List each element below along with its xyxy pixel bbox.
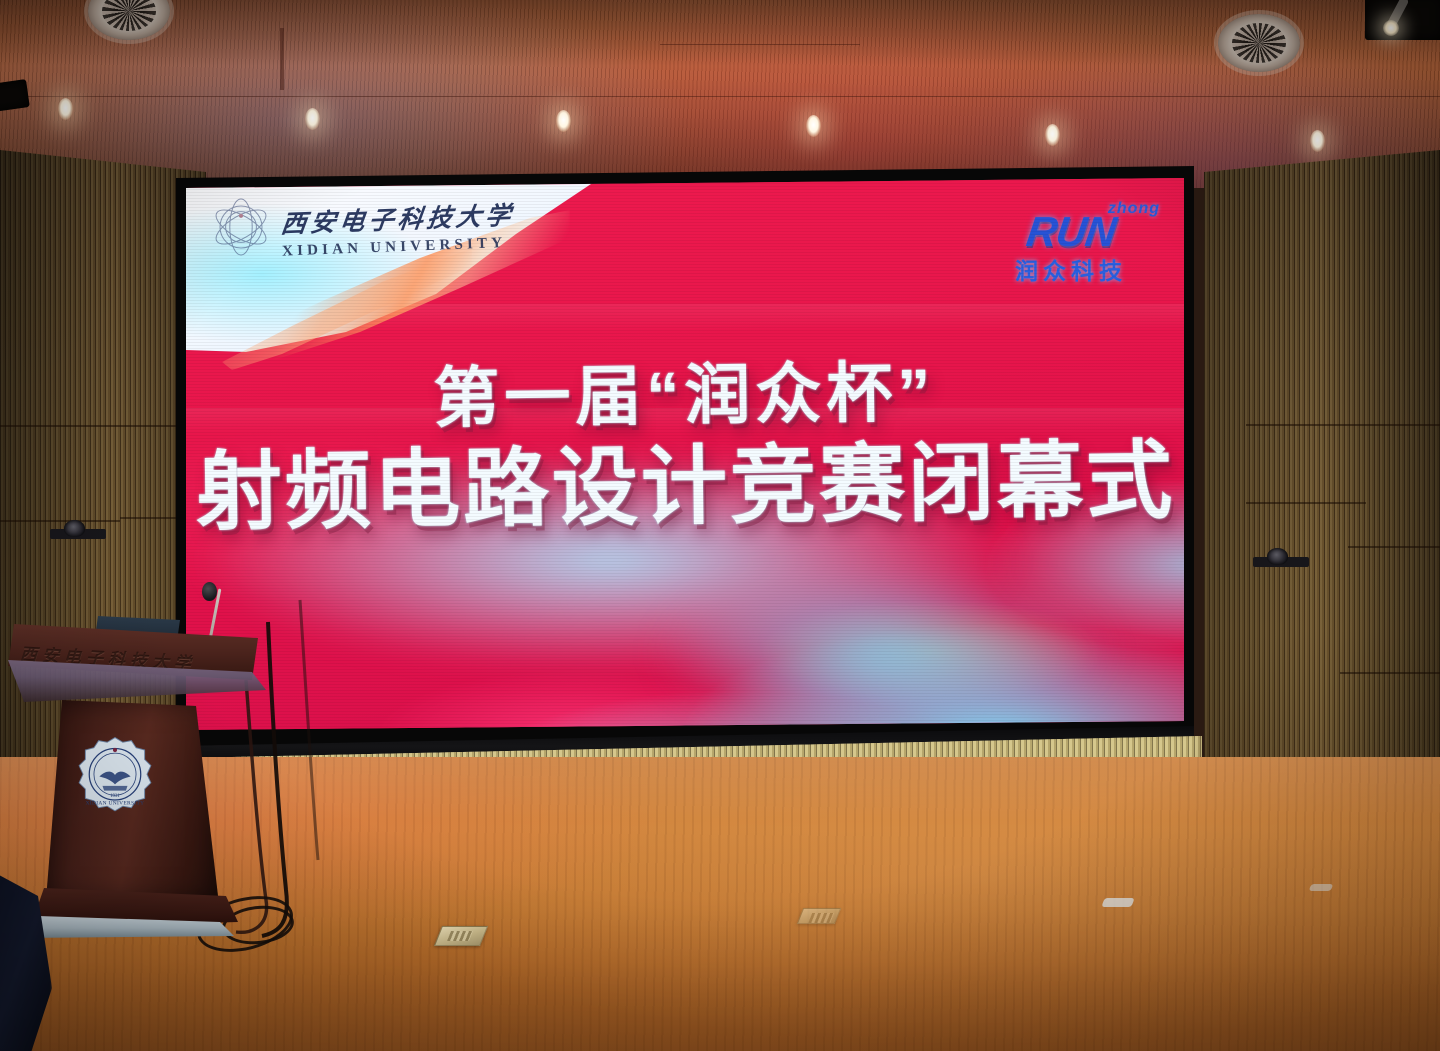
downlight-icon (556, 110, 571, 132)
downlight-icon (1310, 130, 1325, 152)
speaker-podium[interactable]: 西安电子科技大学 1931 XIDIAN UNIVERSITY (8, 616, 278, 946)
wall-seam (1246, 502, 1366, 504)
ceiling-light-recess (1365, 0, 1440, 40)
floor-debris (1101, 898, 1134, 907)
sponsor-wordmark: RUN (973, 208, 1170, 256)
left-wall-camera-icon (50, 520, 106, 540)
podium-crest-svg: 1931 XIDIAN UNIVERSITY (76, 736, 154, 814)
wall-seam (1340, 672, 1440, 674)
ceiling-seam (280, 28, 284, 90)
sponsor-name-chinese: 润众科技 (976, 252, 1166, 286)
downlight-icon (305, 108, 320, 130)
event-title-line2: 射频电路设计竞赛闭幕式 (186, 438, 1184, 536)
ceiling-seam (660, 44, 860, 45)
svg-text:XIDIAN UNIVERSITY: XIDIAN UNIVERSITY (86, 801, 145, 807)
microphone-icon (202, 582, 217, 601)
podium-crest-icon: 1931 XIDIAN UNIVERSITY (76, 736, 154, 814)
camera-lens-icon (64, 520, 85, 537)
auditorium-scene: 西安电子科技大学 XIDIAN UNIVERSITY zhong RUN 润众科… (0, 0, 1440, 1051)
wall-seam (1246, 424, 1440, 426)
wall-seam (120, 517, 176, 519)
screen-ribbon-graphic-2 (525, 519, 1184, 730)
downlight-icon (806, 115, 821, 137)
xidian-university-name: 西安电子科技大学 XIDIAN UNIVERSITY (282, 200, 522, 256)
svg-text:1931: 1931 (110, 794, 120, 799)
spotlight-icon (1383, 20, 1399, 36)
downlight-icon (58, 98, 73, 120)
right-wall-camera-icon (1253, 548, 1309, 568)
wall-seam (0, 425, 176, 427)
floor-socket-box (434, 926, 488, 946)
downlight-icon (1045, 124, 1060, 146)
ceiling-seam (0, 96, 1440, 97)
wall-seam (1348, 546, 1440, 548)
event-title-line1: 第一届“润众杯” (186, 356, 1184, 434)
crest-svg (206, 192, 276, 262)
floor-socket-box (797, 908, 841, 924)
event-title: 第一届“润众杯” 射频电路设计竞赛闭幕式 (186, 356, 1184, 536)
xidian-name-chinese: 西安电子科技大学 (279, 195, 525, 240)
sponsor-logo: zhong RUN 润众科技 (976, 198, 1166, 282)
ceiling-vent-icon (1218, 14, 1300, 72)
floor-debris (1309, 884, 1334, 891)
xidian-crest-icon (206, 192, 276, 262)
camera-lens-icon (1267, 548, 1288, 565)
